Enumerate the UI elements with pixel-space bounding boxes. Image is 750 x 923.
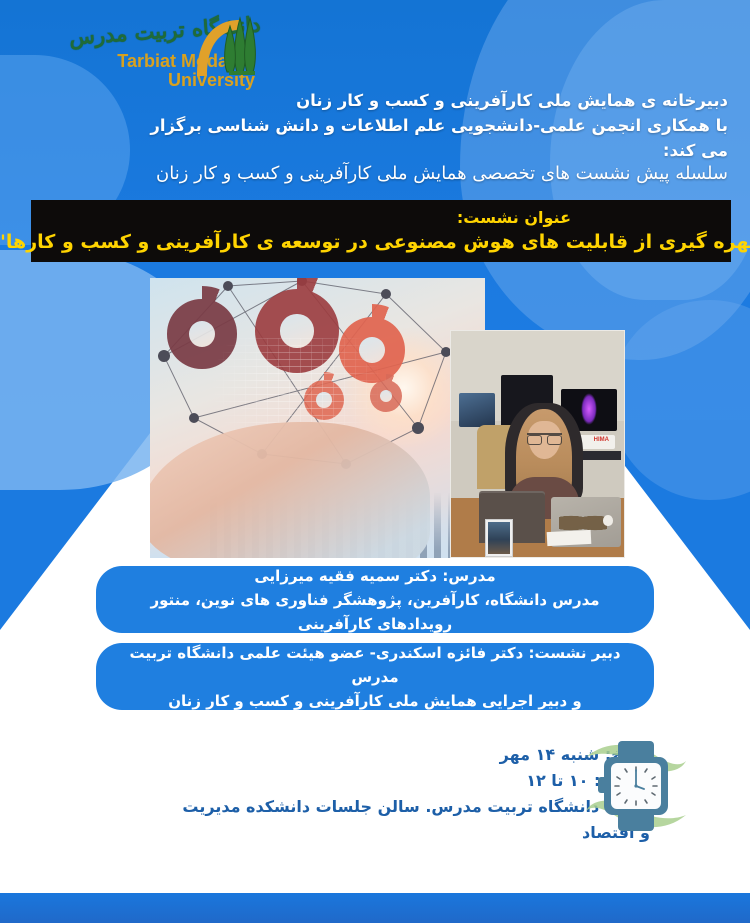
ai-gears-hand-illustration: دست انسان و چرخ دنده های هوش مصنوعی با ش… — [150, 278, 485, 558]
photo-glasses-icon — [527, 433, 562, 441]
header-line-1: دبیرخانه ی همایش ملی کارآفرینی و کسب و ک… — [128, 88, 728, 113]
session-title-band: عنوان نشست: "بهره گیری از قابلیت های هوش… — [31, 200, 731, 262]
chair-title-line: و دبیر اجرایی همایش ملی کارآفرینی و کسب … — [168, 689, 582, 713]
event-time: ساعت: ۱۰ تا ۱۲ — [180, 768, 650, 794]
series-line: سلسله پیش نشست های تخصصی همایش ملی کارآف… — [28, 160, 728, 188]
session-chair-info-box: دبیر نشست: دکتر فائزه اسکندری- عضو هیئت … — [96, 643, 654, 710]
cypress-trees-arc-emblem-icon — [193, 14, 271, 80]
speaker-info-box: مدرس: دکتر سمیه فقیه میرزایی مدرس دانشگا… — [96, 566, 654, 633]
speaker-title-line: مدرس دانشگاه، کارآفرین، پژوهشگر فناوری ه… — [114, 588, 636, 636]
photo-papers — [547, 530, 592, 546]
header-text-block: دبیرخانه ی همایش ملی کارآفرینی و کسب و ک… — [128, 88, 728, 163]
event-poster: دانشگاه تربیت مدرس Tarbiat Modares Unive… — [0, 0, 750, 923]
photo-neon-screen-art — [581, 393, 597, 425]
background-bottom-strip — [0, 893, 750, 923]
photo-picture-frame — [485, 519, 513, 557]
photo-apple-logo-icon — [603, 515, 613, 526]
event-details-block: تاریخ: شنبه ۱۴ مهر ساعت: ۱۰ تا ۱۲ مکان: … — [180, 742, 650, 846]
event-location: مکان: دانشگاه تربیت مدرس. سالن جلسات دان… — [180, 794, 650, 846]
event-date: تاریخ: شنبه ۱۴ مهر — [180, 742, 650, 768]
square-wristwatch-clock-icon — [584, 731, 688, 839]
header-line-2: با همکاری انجمن علمی-دانشجویی علم اطلاعا… — [128, 113, 728, 163]
speaker-name-line: مدرس: دکتر سمیه فقیه میرزایی — [254, 564, 495, 588]
speaker-photo: HIMA تصویر مدرس پشت میز کار با لپ تاپ و … — [450, 330, 625, 558]
chair-name-line: دبیر نشست: دکتر فائزه اسکندری- عضو هیئت … — [114, 641, 636, 689]
session-title-main: "بهره گیری از قابلیت های هوش مصنوعی در ت… — [0, 229, 750, 255]
session-title-kicker: عنوان نشست: — [41, 207, 721, 229]
photo-monitor-left — [459, 393, 495, 427]
